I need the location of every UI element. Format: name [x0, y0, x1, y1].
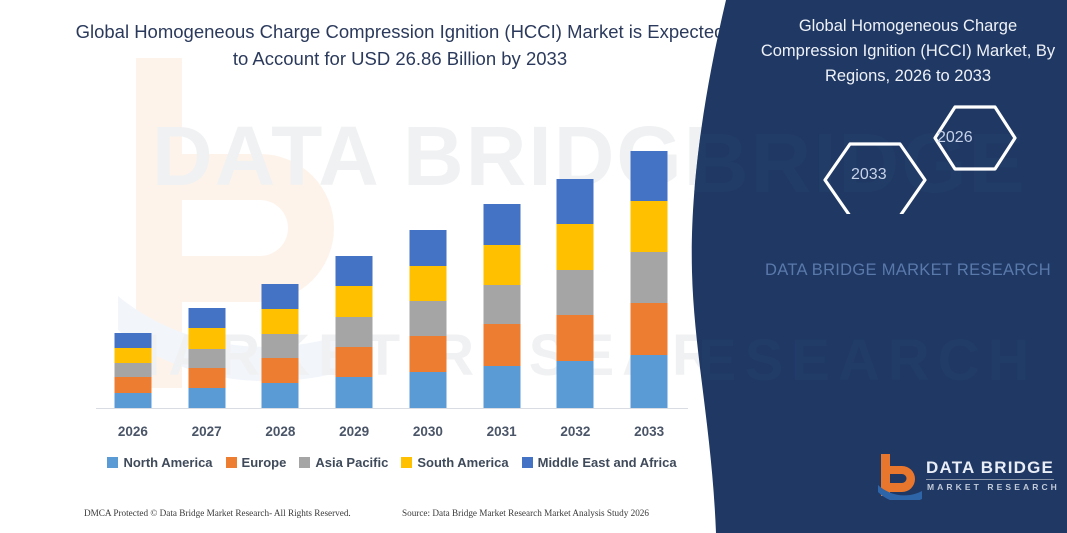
legend-swatch-icon: [107, 457, 118, 468]
bar-stack: [114, 333, 151, 409]
bar-segment-south-america: [188, 328, 225, 348]
bar-segment-south-america: [557, 224, 594, 270]
legend-swatch-icon: [299, 457, 310, 468]
data-bridge-logo: DATA BRIDGE MARKET RESEARCH: [878, 452, 1067, 504]
bar-segment-asia-pacific: [557, 270, 594, 315]
bar-segment-middle-east-and-africa: [631, 151, 668, 201]
bar-segment-asia-pacific: [409, 301, 446, 336]
bar-segment-north-america: [483, 366, 520, 409]
bar-segment-south-america: [336, 286, 373, 317]
logo-divider: [926, 479, 1054, 480]
logo-mark-icon: [878, 452, 922, 500]
bar-segment-europe: [483, 324, 520, 365]
bar-segment-north-america: [557, 361, 594, 409]
bar-segment-asia-pacific: [114, 363, 151, 377]
bar-segment-north-america: [114, 393, 151, 409]
footer-source: Source: Data Bridge Market Research Mark…: [402, 508, 649, 518]
logo-name-main: DATA BRIDGE: [926, 458, 1054, 478]
year-hexagons: 2026 2033: [812, 104, 1052, 214]
bar-segment-south-america: [631, 201, 668, 253]
hexagon-2026-label: 2026: [937, 129, 973, 147]
bar-segment-south-america: [483, 245, 520, 285]
bar-segment-asia-pacific: [188, 349, 225, 368]
bar-stack: [336, 256, 373, 409]
x-tick-label-2027: 2027: [173, 424, 241, 439]
bar-segment-south-america: [262, 309, 299, 334]
hexagon-outlines: [812, 104, 1052, 214]
bar-stack: [557, 179, 594, 409]
bar-segment-europe: [409, 336, 446, 372]
bar-segment-middle-east-and-africa: [409, 230, 446, 266]
bar-segment-north-america: [188, 388, 225, 409]
bar-segment-north-america: [262, 383, 299, 409]
bar-segment-middle-east-and-africa: [114, 333, 151, 347]
x-tick-label-2030: 2030: [394, 424, 462, 439]
bar-segment-europe: [336, 347, 373, 378]
bar-segment-asia-pacific: [336, 317, 373, 347]
x-axis-baseline: [96, 408, 688, 409]
bar-stack: [262, 284, 299, 409]
legend-label: Asia Pacific: [315, 455, 388, 470]
logo-name-sub: MARKET RESEARCH: [927, 482, 1060, 492]
bar-segment-asia-pacific: [631, 252, 668, 303]
right-panel-content: Global Homogeneous Charge Compression Ig…: [740, 0, 1067, 533]
chart-panel: DATA BRIDGE MARKET RESEARCH Global Homog…: [0, 0, 740, 533]
legend-item-south-america[interactable]: South America: [401, 455, 508, 470]
bar-segment-europe: [262, 358, 299, 383]
bar-stack: [483, 204, 520, 409]
footer-copyright: DMCA Protected © Data Bridge Market Rese…: [84, 508, 351, 518]
legend-item-europe[interactable]: Europe: [226, 455, 287, 470]
hexagon-2033-label: 2033: [851, 166, 887, 184]
bar-segment-north-america: [336, 377, 373, 409]
bar-segment-europe: [631, 303, 668, 355]
chart-title: Global Homogeneous Charge Compression Ig…: [70, 18, 730, 72]
legend-item-middle-east-and-africa[interactable]: Middle East and Africa: [522, 455, 677, 470]
chart-legend: North AmericaEuropeAsia PacificSouth Ame…: [96, 455, 688, 470]
bar-segment-middle-east-and-africa: [483, 204, 520, 244]
x-tick-label-2028: 2028: [246, 424, 314, 439]
bar-segment-south-america: [114, 348, 151, 363]
x-tick-label-2029: 2029: [320, 424, 388, 439]
plot-area: [96, 100, 686, 409]
bar-segment-europe: [114, 377, 151, 392]
bar-stack: [409, 230, 446, 409]
x-axis-labels: 20262027202820292030203120322033: [96, 424, 686, 446]
bar-segment-south-america: [409, 266, 446, 302]
bar-stack: [631, 151, 668, 409]
legend-item-asia-pacific[interactable]: Asia Pacific: [299, 455, 388, 470]
bar-segment-europe: [557, 315, 594, 361]
bar-segment-north-america: [631, 355, 668, 409]
footer: DMCA Protected © Data Bridge Market Rese…: [0, 508, 740, 533]
legend-label: Middle East and Africa: [538, 455, 677, 470]
x-tick-label-2031: 2031: [468, 424, 536, 439]
bar-segment-asia-pacific: [262, 334, 299, 358]
infographic-canvas: DATA BRIDGE MARKET RESEARCH Global Homog…: [0, 0, 1067, 533]
bar-segment-middle-east-and-africa: [262, 284, 299, 309]
bar-segment-north-america: [409, 372, 446, 409]
legend-label: Europe: [242, 455, 287, 470]
legend-swatch-icon: [401, 457, 412, 468]
legend-swatch-icon: [226, 457, 237, 468]
x-tick-label-2032: 2032: [541, 424, 609, 439]
legend-swatch-icon: [522, 457, 533, 468]
right-panel-title: Global Homogeneous Charge Compression Ig…: [758, 14, 1058, 89]
bar-segment-middle-east-and-africa: [188, 308, 225, 328]
bar-segment-middle-east-and-africa: [336, 256, 373, 286]
x-tick-label-2026: 2026: [99, 424, 167, 439]
legend-label: North America: [123, 455, 212, 470]
bar-segment-middle-east-and-africa: [557, 179, 594, 224]
legend-label: South America: [417, 455, 508, 470]
bar-segment-europe: [188, 368, 225, 388]
legend-item-north-america[interactable]: North America: [107, 455, 212, 470]
brand-line: DATA BRIDGE MARKET RESEARCH: [760, 258, 1056, 283]
bar-stack: [188, 308, 225, 409]
x-tick-label-2033: 2033: [615, 424, 683, 439]
bar-segment-asia-pacific: [483, 285, 520, 324]
